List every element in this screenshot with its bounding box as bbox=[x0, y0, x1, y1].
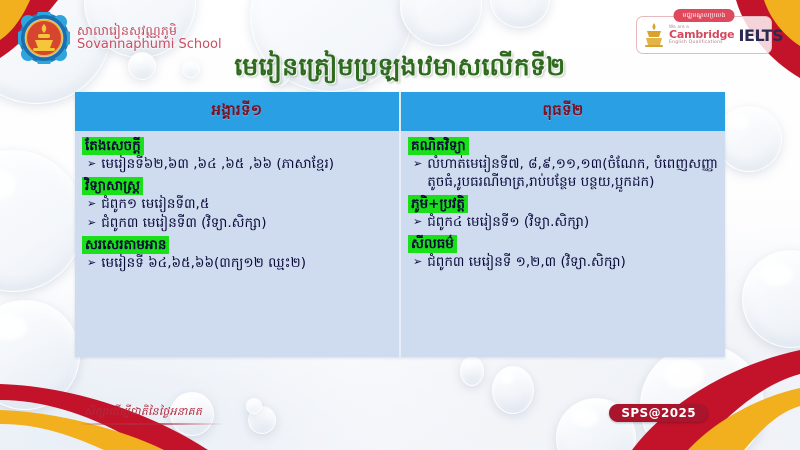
subject-block: វិទ្យាសាស្ត្រ ➢ ជំពូក១ មេរៀនទី៣,៥ ➢ ជំពូ… bbox=[81, 175, 393, 233]
list-item: ➢ ជំពូក៤ មេរៀនទី១ (វិទ្យា.សិក្សា) bbox=[413, 214, 719, 232]
lesson-text: ជំពូក៤ មេរៀនទី១ (វិទ្យា.សិក្សា) bbox=[427, 214, 719, 232]
bullet-arrow-icon: ➢ bbox=[413, 214, 422, 232]
list-item: ➢ ជំពូក៣ មេរៀនទី៣ (វិទ្យា.សិក្សា) bbox=[87, 215, 393, 233]
bullet-arrow-icon: ➢ bbox=[87, 255, 96, 273]
page-title: មេរៀនត្រៀមប្រឡងឋមាសលើកទី២ bbox=[0, 52, 800, 88]
bullet-arrow-icon: ➢ bbox=[413, 254, 422, 272]
subject-label: សីលធម៌ bbox=[408, 235, 457, 253]
subject-block: គណិតវិទ្យា ➢ លំហាត់មេរៀនទី៧, ៨,៩,១១,១៣(ច… bbox=[407, 135, 719, 192]
list-item: ➢ លំហាត់មេរៀនទី៧, ៨,៩,១១,១៣(ចំណែក, បំពេញ… bbox=[413, 156, 719, 192]
bubble-decoration bbox=[248, 406, 276, 434]
bubble-decoration bbox=[640, 344, 764, 450]
bubble-decoration bbox=[246, 398, 262, 414]
cambridge-wordmark: We are a Cambridge English Qualification… bbox=[669, 25, 734, 46]
bubble-decoration bbox=[492, 366, 534, 414]
table-body-row: តែងសេចក្តី ➢ មេរៀនទី៦២,៦៣ ,៦៤ ,៦៥ ,៦៦ (ភ… bbox=[75, 131, 725, 357]
bubble-decoration bbox=[716, 106, 782, 172]
subject-block: សីលធម៌ ➢ ជំពូក៣ មេរៀនទី ១,២,៣ (វិទ្យា.សិ… bbox=[407, 233, 719, 272]
bubble-decoration bbox=[400, 0, 482, 46]
list-item: ➢ ជំពូក១ មេរៀនទី៣,៥ bbox=[87, 196, 393, 214]
subject-label: វិទ្យាសាស្ត្រ bbox=[82, 177, 143, 195]
school-name-english: Sovannaphumi School bbox=[77, 38, 222, 52]
bullet-arrow-icon: ➢ bbox=[87, 215, 96, 233]
lesson-text: លំហាត់មេរៀនទី៧, ៨,៩,១១,១៣(ចំណែក, បំពេញសញ… bbox=[427, 156, 719, 192]
table-header-row: អង្គារទី១ ពុធទី២ bbox=[75, 92, 725, 131]
subject-block: សរសេរតាមអាន ➢ មេរៀនទី ៦៤,៦៥,៦៦(៣ក្យ១២ ឈ្… bbox=[81, 234, 393, 273]
subject-label: គណិតវិទ្យា bbox=[408, 137, 469, 155]
ielts-wordmark: IELTS bbox=[738, 26, 783, 45]
lesson-text: ជំពូក៣ មេរៀនទី៣ (វិទ្យា.សិក្សា) bbox=[101, 215, 393, 233]
subject-block: តែងសេចក្តី ➢ មេរៀនទី៦២,៦៣ ,៦៤ ,៦៥ ,៦៦ (ភ… bbox=[81, 135, 393, 174]
bubble-decoration bbox=[460, 356, 484, 386]
lesson-text: ជំពូក៣ មេរៀនទី ១,២,៣ (វិទ្យា.សិក្សា) bbox=[427, 254, 719, 272]
bullet-arrow-icon: ➢ bbox=[87, 196, 96, 214]
certification-pill-label: មជ្ឈមណ្ឌលប្រលង bbox=[674, 9, 735, 22]
subject-block: ភូមិ+ប្រវត្តិ ➢ ជំពូក៤ មេរៀនទី១ (វិទ្យា.… bbox=[407, 193, 719, 232]
schedule-table: អង្គារទី១ ពុធទី២ តែងសេចក្តី ➢ មេរៀនទី៦២,… bbox=[75, 92, 725, 357]
lesson-text: មេរៀនទី៦២,៦៣ ,៦៤ ,៦៥ ,៦៦ (ភាសាខ្មែរ) bbox=[101, 156, 393, 174]
cambridge-crest-icon bbox=[643, 22, 665, 48]
subject-label: ភូមិ+ប្រវត្តិ bbox=[408, 195, 468, 213]
lesson-text: ជំពូក១ មេរៀនទី៣,៥ bbox=[101, 196, 393, 214]
footer-slogan: សិក្សាដើម្បីជាតិនៃថ្ងៃអនាគត bbox=[84, 405, 202, 421]
column-header-day1: អង្គារទី១ bbox=[75, 92, 401, 131]
bubble-decoration bbox=[0, 300, 80, 410]
cambridge-main-line: Cambridge bbox=[669, 29, 734, 41]
cambridge-sub-line: English Qualifications bbox=[669, 41, 734, 46]
certification-badge: មជ្ឈមណ្ឌលប្រលង We are a Cambridge Englis… bbox=[636, 16, 772, 54]
subject-label: សរសេរតាមអាន bbox=[82, 236, 169, 254]
footer-badge: SPS@2025 bbox=[609, 404, 708, 422]
bubble-decoration bbox=[490, 0, 550, 28]
column-header-day2: ពុធទី២ bbox=[401, 92, 725, 131]
list-item: ➢ មេរៀនទី ៦៤,៦៥,៦៦(៣ក្យ១២ ឈ្មះ២) bbox=[87, 255, 393, 273]
bubble-decoration bbox=[742, 250, 800, 348]
list-item: ➢ ជំពូក៣ មេរៀនទី ១,២,៣ (វិទ្យា.សិក្សា) bbox=[413, 254, 719, 272]
slide-canvas: សាលារៀនសុវណ្ណភូមិ Sovannaphumi School មជ… bbox=[0, 0, 800, 450]
school-name-khmer: សាលារៀនសុវណ្ណភូមិ bbox=[77, 24, 222, 37]
lesson-text: មេរៀនទី ៦៤,៦៥,៦៦(៣ក្យ១២ ឈ្មះ២) bbox=[101, 255, 393, 273]
list-item: ➢ មេរៀនទី៦២,៦៣ ,៦៤ ,៦៥ ,៦៦ (ភាសាខ្មែរ) bbox=[87, 156, 393, 174]
bullet-arrow-icon: ➢ bbox=[87, 156, 96, 174]
table-cell-day1: តែងសេចក្តី ➢ មេរៀនទី៦២,៦៣ ,៦៤ ,៦៥ ,៦៦ (ភ… bbox=[75, 131, 401, 357]
subject-label: តែងសេចក្តី bbox=[82, 137, 144, 155]
school-name-block: សាលារៀនសុវណ្ណភូមិ Sovannaphumi School bbox=[77, 24, 222, 52]
bubble-decoration bbox=[0, 150, 84, 292]
bullet-arrow-icon: ➢ bbox=[413, 156, 422, 192]
table-cell-day2: គណិតវិទ្យា ➢ លំហាត់មេរៀនទី៧, ៨,៩,១១,១៣(ច… bbox=[401, 131, 725, 357]
